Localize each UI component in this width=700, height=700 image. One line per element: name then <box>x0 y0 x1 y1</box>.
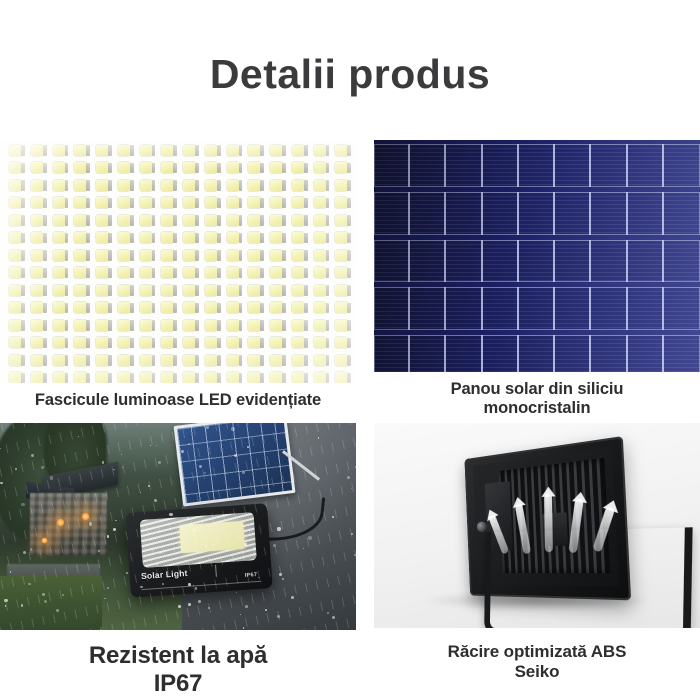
led-bead <box>202 160 224 178</box>
led-bead <box>28 352 50 370</box>
led-board <box>0 140 356 383</box>
led-bead <box>93 370 115 384</box>
led-bead <box>267 300 289 318</box>
led-bead <box>245 247 267 265</box>
led-bead <box>267 265 289 283</box>
solar-busbar <box>519 287 555 330</box>
product-detail-page: Detalii produs Fascicule luminoase LED e… <box>0 0 700 700</box>
led-bead <box>158 282 180 300</box>
solar-busbar <box>664 287 700 330</box>
led-bead <box>202 142 224 160</box>
led-bead-array-image <box>0 140 356 383</box>
led-bead <box>245 195 267 213</box>
led-bead <box>50 265 72 283</box>
led-bead <box>311 142 333 160</box>
led-bead <box>289 370 311 384</box>
caption-waterproof: Rezistent la apă IP67 <box>0 630 356 699</box>
solar-busbar <box>519 192 555 235</box>
led-bead <box>224 317 246 335</box>
feature-card-led-beads: Fascicule luminoase LED evidențiate <box>0 140 356 432</box>
led-bead <box>311 195 333 213</box>
led-bead <box>93 142 115 160</box>
led-bead <box>202 212 224 230</box>
led-bead <box>224 160 246 178</box>
led-bead <box>202 370 224 384</box>
led-bead <box>180 247 202 265</box>
led-bead <box>332 142 354 160</box>
caption-line: Răcire optimizată ABS <box>374 642 700 662</box>
led-bead <box>115 230 137 248</box>
led-bead <box>71 230 93 248</box>
floodlight-label-area: Solar Light IP67 <box>141 563 262 592</box>
led-bead <box>245 317 267 335</box>
solar-busbar <box>446 240 482 283</box>
led-bead <box>245 177 267 195</box>
page-title: Detalii produs <box>0 52 700 97</box>
led-bead <box>158 160 180 178</box>
led-bead <box>224 142 246 160</box>
led-bead <box>289 195 311 213</box>
led-bead <box>224 282 246 300</box>
led-bead <box>6 300 28 318</box>
led-bead <box>332 247 354 265</box>
led-bead <box>180 230 202 248</box>
led-bead <box>180 212 202 230</box>
led-bead <box>28 335 50 353</box>
led-bead <box>332 317 354 335</box>
solar-busbar <box>519 240 555 283</box>
led-bead <box>93 195 115 213</box>
led-bead <box>93 282 115 300</box>
led-bead <box>267 335 289 353</box>
led-bead <box>224 177 246 195</box>
led-bead <box>224 230 246 248</box>
led-bead <box>93 212 115 230</box>
led-bead <box>332 335 354 353</box>
led-bead <box>50 247 72 265</box>
solar-busbar <box>628 192 664 235</box>
led-bead <box>202 195 224 213</box>
led-bead <box>267 177 289 195</box>
floodlight-brand-text: Solar Light <box>141 568 188 581</box>
solar-busbar <box>483 240 519 283</box>
solar-busbar <box>628 287 664 330</box>
led-bead <box>245 160 267 178</box>
lawn <box>0 576 102 630</box>
led-bead <box>50 282 72 300</box>
led-bead <box>289 160 311 178</box>
led-bead <box>71 247 93 265</box>
led-bead <box>332 370 354 384</box>
led-bead <box>71 212 93 230</box>
led-bead <box>28 300 50 318</box>
led-bead <box>71 195 93 213</box>
label-underline <box>142 580 261 589</box>
solar-busbar <box>410 287 446 330</box>
caption-line: monocristalin <box>374 399 700 418</box>
led-bead <box>224 265 246 283</box>
led-bead <box>6 370 28 384</box>
solar-busbars <box>374 287 700 330</box>
led-bead <box>224 352 246 370</box>
led-bead <box>115 370 137 384</box>
led-bead <box>158 335 180 353</box>
led-bead <box>28 317 50 335</box>
led-bead <box>115 247 137 265</box>
led-bead <box>311 282 333 300</box>
led-bead <box>50 317 72 335</box>
led-bead <box>224 212 246 230</box>
led-bead <box>93 352 115 370</box>
led-bead-grid <box>6 142 354 383</box>
led-bead <box>202 282 224 300</box>
solar-busbar <box>446 192 482 235</box>
caption-line: Panou solar din siliciu <box>374 380 700 399</box>
solar-busbar <box>374 192 410 235</box>
led-bead <box>71 142 93 160</box>
led-bead <box>6 195 28 213</box>
led-bead <box>137 160 159 178</box>
led-bead <box>289 300 311 318</box>
led-bead <box>289 230 311 248</box>
floodlight-front: Solar Light IP67 <box>125 503 273 598</box>
led-bead <box>245 352 267 370</box>
solar-busbar <box>628 240 664 283</box>
led-bead <box>50 370 72 384</box>
led-bead <box>267 195 289 213</box>
led-bead <box>202 317 224 335</box>
solar-busbar <box>591 335 627 372</box>
led-bead <box>137 352 159 370</box>
led-bead <box>93 177 115 195</box>
led-bead <box>267 370 289 384</box>
solar-busbar <box>591 240 627 283</box>
led-bead <box>158 195 180 213</box>
led-bead <box>6 160 28 178</box>
led-bead <box>6 177 28 195</box>
led-bead <box>180 142 202 160</box>
led-bead <box>332 282 354 300</box>
led-bead <box>245 300 267 318</box>
led-bead <box>6 352 28 370</box>
led-bead <box>28 142 50 160</box>
led-bead <box>93 335 115 353</box>
led-bead <box>137 300 159 318</box>
led-bead <box>50 142 72 160</box>
solar-busbar <box>374 335 410 372</box>
floodlight-reflector <box>140 512 257 568</box>
feature-card-waterproof: Solar Light IP67 Rezistent la apă IP67 <box>0 423 356 700</box>
led-bead <box>289 352 311 370</box>
led-bead <box>50 195 72 213</box>
led-bead <box>115 142 137 160</box>
product-backdrop <box>374 423 700 628</box>
led-bead <box>137 247 159 265</box>
led-bead <box>332 265 354 283</box>
solar-busbar <box>446 335 482 372</box>
led-bead <box>71 300 93 318</box>
led-bead <box>311 265 333 283</box>
caption-line: Rezistent la apă <box>0 642 356 670</box>
floodlight-ip-text: IP67 <box>245 572 258 579</box>
led-bead <box>28 160 50 178</box>
solar-busbar <box>410 335 446 372</box>
led-bead <box>245 265 267 283</box>
led-bead <box>224 335 246 353</box>
led-bead <box>137 212 159 230</box>
solar-busbar <box>664 144 700 187</box>
caption-line: IP67 <box>0 670 356 698</box>
led-bead <box>332 160 354 178</box>
solar-busbar <box>555 335 591 372</box>
led-bead <box>50 230 72 248</box>
led-bead <box>311 300 333 318</box>
floodlight-rear-image <box>374 423 700 628</box>
led-bead <box>267 212 289 230</box>
led-bead <box>224 247 246 265</box>
solar-busbar <box>591 287 627 330</box>
led-bead <box>180 300 202 318</box>
led-bead <box>289 177 311 195</box>
adjust-knob <box>476 521 486 531</box>
led-bead <box>180 317 202 335</box>
led-bead <box>245 212 267 230</box>
led-bead <box>267 142 289 160</box>
led-bead <box>311 212 333 230</box>
led-bead <box>137 282 159 300</box>
led-bead <box>332 212 354 230</box>
solar-cell-rows <box>374 144 700 372</box>
led-bead <box>71 352 93 370</box>
led-bead <box>6 317 28 335</box>
led-bead <box>202 177 224 195</box>
led-bead <box>158 370 180 384</box>
led-bead <box>115 212 137 230</box>
led-bead <box>137 195 159 213</box>
led-bead <box>202 230 224 248</box>
led-bead <box>50 212 72 230</box>
led-bead <box>289 142 311 160</box>
solar-cell-surface <box>374 140 700 372</box>
solar-busbar <box>555 287 591 330</box>
stone-wall <box>30 493 108 555</box>
solar-panel-image <box>374 140 700 372</box>
solar-busbars <box>374 144 700 187</box>
led-bead <box>50 335 72 353</box>
led-bead <box>180 160 202 178</box>
led-bead <box>50 352 72 370</box>
led-bead <box>267 230 289 248</box>
led-bead <box>28 282 50 300</box>
solar-busbar <box>410 192 446 235</box>
led-bead <box>28 370 50 384</box>
led-bead <box>158 352 180 370</box>
solar-busbars <box>374 192 700 235</box>
led-bead <box>267 317 289 335</box>
led-bead <box>6 265 28 283</box>
solar-busbar <box>555 240 591 283</box>
led-bead <box>93 317 115 335</box>
led-bead <box>311 160 333 178</box>
led-bead <box>137 317 159 335</box>
led-bead <box>289 335 311 353</box>
led-bead <box>332 352 354 370</box>
led-bead <box>6 282 28 300</box>
feature-card-cooling: Răcire optimizată ABS Seiko <box>374 423 700 700</box>
led-bead <box>115 195 137 213</box>
led-bead <box>180 335 202 353</box>
led-bead <box>289 282 311 300</box>
led-bead <box>158 265 180 283</box>
solar-cell-row <box>374 144 700 187</box>
mounting-bracket <box>484 527 693 628</box>
led-bead <box>50 177 72 195</box>
solar-busbar <box>664 240 700 283</box>
led-bead <box>245 335 267 353</box>
solar-busbar <box>664 192 700 235</box>
led-bead <box>202 352 224 370</box>
solar-busbar <box>555 144 591 187</box>
led-bead <box>137 335 159 353</box>
led-bead <box>115 282 137 300</box>
solar-busbar <box>446 287 482 330</box>
led-bead <box>158 300 180 318</box>
led-bead <box>50 160 72 178</box>
led-bead <box>28 247 50 265</box>
porch-lamp-icon <box>56 518 65 527</box>
led-bead <box>332 300 354 318</box>
led-bead <box>180 265 202 283</box>
led-bead <box>180 195 202 213</box>
led-bead <box>6 212 28 230</box>
led-bead <box>93 230 115 248</box>
led-bead <box>267 352 289 370</box>
solar-cell-row <box>374 192 700 235</box>
caption-led-beads: Fascicule luminoase LED evidențiate <box>0 383 356 410</box>
led-bead <box>311 247 333 265</box>
solar-busbar <box>446 144 482 187</box>
led-bead <box>245 370 267 384</box>
led-bead <box>71 282 93 300</box>
led-bead <box>71 265 93 283</box>
caption-cooling: Răcire optimizată ABS Seiko <box>374 628 700 682</box>
led-bead <box>6 142 28 160</box>
led-bead <box>245 282 267 300</box>
led-bead <box>267 247 289 265</box>
led-bead <box>289 317 311 335</box>
led-bead <box>6 335 28 353</box>
led-bead <box>28 177 50 195</box>
led-bead <box>158 212 180 230</box>
led-bead <box>202 265 224 283</box>
mini-solar-cells <box>177 423 292 503</box>
solar-busbars <box>374 335 700 372</box>
solar-busbar <box>519 144 555 187</box>
led-bead <box>289 265 311 283</box>
led-bead <box>6 230 28 248</box>
led-bead <box>311 335 333 353</box>
led-bead <box>71 177 93 195</box>
led-bead <box>28 265 50 283</box>
rain-scene-image: Solar Light IP67 <box>0 423 356 630</box>
led-bead <box>71 317 93 335</box>
led-bead <box>115 300 137 318</box>
caption-line: Fascicule luminoase LED evidențiate <box>0 391 356 410</box>
led-bead <box>158 177 180 195</box>
led-bead <box>137 370 159 384</box>
led-bead <box>137 177 159 195</box>
led-bead <box>115 265 137 283</box>
solar-busbar <box>591 192 627 235</box>
led-bead <box>158 230 180 248</box>
solar-busbar <box>591 144 627 187</box>
led-bead <box>267 160 289 178</box>
led-bead <box>93 247 115 265</box>
solar-busbar <box>483 192 519 235</box>
solar-cell-row <box>374 240 700 283</box>
led-bead <box>311 352 333 370</box>
rain-scene: Solar Light IP67 <box>0 423 356 630</box>
solar-cell-row <box>374 335 700 372</box>
solar-busbar <box>628 144 664 187</box>
led-bead <box>28 230 50 248</box>
caption-solar-panel: Panou solar din siliciu monocristalin <box>374 372 700 419</box>
led-bead <box>115 160 137 178</box>
led-bead <box>50 300 72 318</box>
led-bead <box>311 230 333 248</box>
solar-busbar <box>410 144 446 187</box>
led-bead <box>158 247 180 265</box>
led-bead <box>332 195 354 213</box>
led-bead <box>224 195 246 213</box>
led-bead <box>115 335 137 353</box>
led-bead <box>202 247 224 265</box>
label-divider <box>215 565 217 578</box>
solar-busbar <box>374 287 410 330</box>
feature-card-solar-panel: Panou solar din siliciu monocristalin <box>374 140 700 432</box>
led-bead <box>180 282 202 300</box>
led-bead <box>71 335 93 353</box>
solar-busbar <box>483 287 519 330</box>
led-bead <box>180 177 202 195</box>
led-bead <box>28 195 50 213</box>
led-bead <box>6 247 28 265</box>
led-bead <box>224 370 246 384</box>
led-bead <box>71 160 93 178</box>
led-bead <box>289 247 311 265</box>
led-bead <box>180 370 202 384</box>
solar-busbar <box>483 335 519 372</box>
led-bead <box>332 230 354 248</box>
led-bead <box>180 352 202 370</box>
led-bead <box>311 177 333 195</box>
led-bead <box>115 317 137 335</box>
led-bead <box>93 300 115 318</box>
led-bead <box>311 370 333 384</box>
led-bead <box>93 160 115 178</box>
led-bead <box>158 317 180 335</box>
solar-busbar <box>374 240 410 283</box>
led-bead <box>202 300 224 318</box>
solar-busbar <box>664 335 700 372</box>
porch-lamp-icon <box>41 537 48 544</box>
solar-busbar <box>628 335 664 372</box>
led-bead <box>224 300 246 318</box>
led-bead <box>158 142 180 160</box>
led-bead <box>115 352 137 370</box>
solar-busbar <box>410 240 446 283</box>
solar-busbar <box>555 192 591 235</box>
